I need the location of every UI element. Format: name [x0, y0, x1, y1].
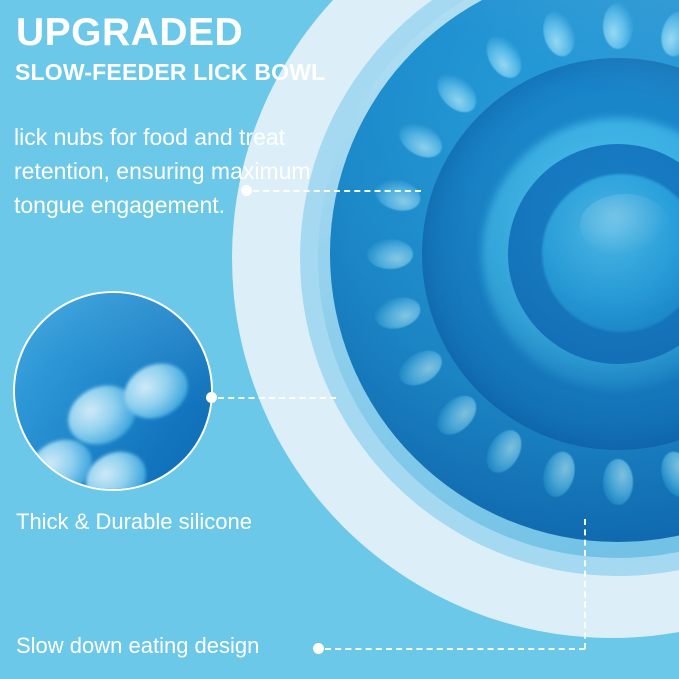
page-subtitle: SLOW-FEEDER LICK BOWL [15, 59, 325, 85]
page-title: UPGRADED [16, 12, 243, 54]
slow-feed-callout-line-horizontal [325, 648, 585, 650]
thickness-callout-dot [206, 392, 217, 403]
thickness-callout-line [218, 397, 336, 399]
magnified-edge-inset [13, 291, 213, 491]
feature-description: lick nubs for food and treat retention, … [14, 120, 314, 222]
lick-nubs-callout-line [253, 190, 421, 192]
lick-nubs-callout-dot [241, 185, 252, 196]
slow-feed-callout-dot [313, 643, 324, 654]
infographic-canvas: UPGRADED SLOW-FEEDER LICK BOWL lick nubs… [0, 0, 679, 679]
slow-feed-callout-line-vertical [584, 519, 586, 649]
caption-thick-durable: Thick & Durable silicone [16, 509, 252, 535]
inset-gloss-overlay [15, 293, 211, 489]
caption-slow-down: Slow down eating design [16, 633, 259, 659]
